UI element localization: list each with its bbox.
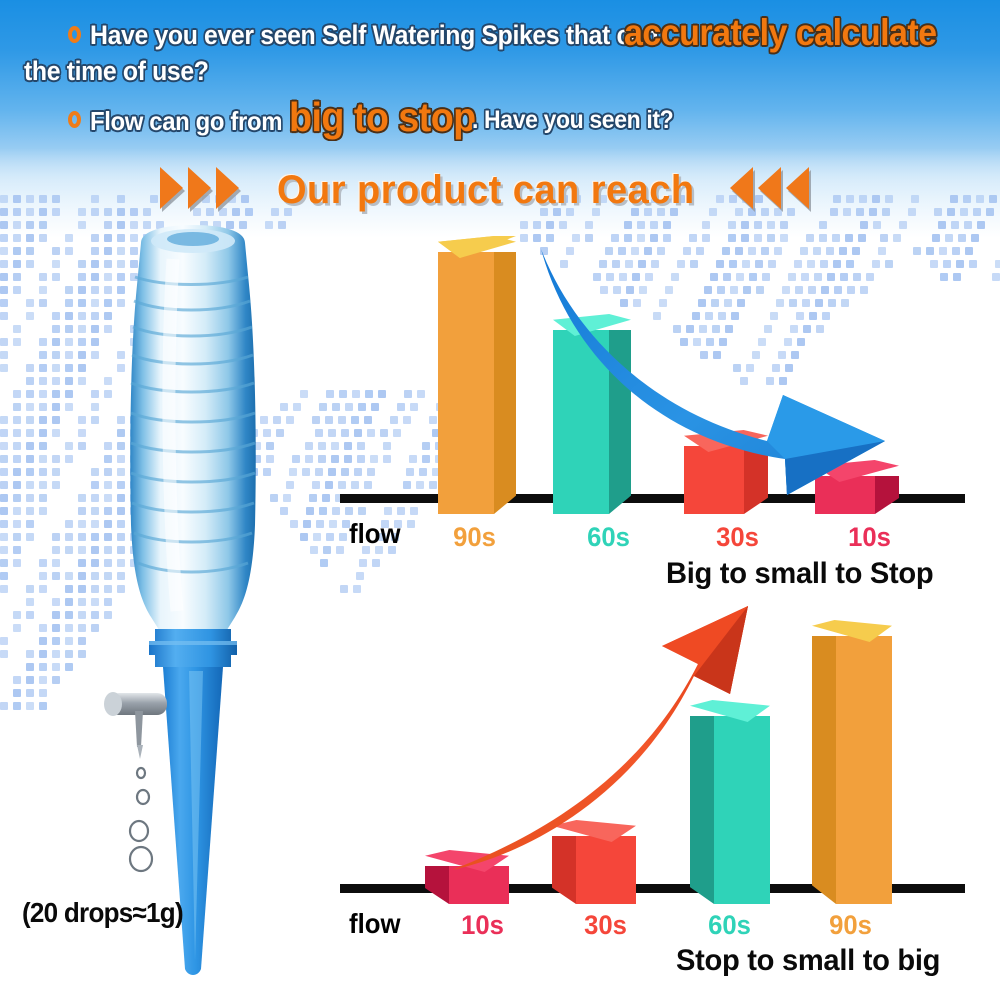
grey-flow-valve-icon bbox=[104, 692, 167, 759]
chart-bottom-tick-10s: 10s bbox=[461, 910, 504, 941]
headline-line2: the time of use? bbox=[24, 56, 209, 87]
bar-front-face bbox=[836, 636, 892, 904]
headline-accurately-calculate: accurately calculate bbox=[624, 12, 937, 54]
headline-line3-part3: . Have you seen it? bbox=[472, 106, 673, 135]
chart-top-tick-90s: 90s bbox=[453, 522, 496, 553]
bar-side-face bbox=[812, 636, 836, 904]
banner-title: Our product can reach bbox=[277, 168, 695, 213]
chart-top-tick-10s: 10s bbox=[848, 522, 891, 553]
chart-top-bar-90s bbox=[438, 236, 516, 514]
product-infographic: Have you ever seen Self Watering Spikes … bbox=[0, 0, 1000, 1000]
headline-big-to-stop: big to stop bbox=[289, 94, 476, 141]
descending-blue-arrow-icon bbox=[535, 245, 915, 535]
chart-bottom-tick-90s: 90s bbox=[829, 910, 872, 941]
chevrons-left-group bbox=[730, 167, 850, 211]
bar-front-face bbox=[438, 252, 494, 514]
chart-top-tick-60s: 60s bbox=[587, 522, 630, 553]
chevrons-right-group bbox=[160, 167, 280, 211]
bar-side-face bbox=[425, 866, 449, 904]
chart-top-caption: Big to small to Stop bbox=[666, 557, 933, 591]
chart-bottom-tick-30s: 30s bbox=[584, 910, 627, 941]
headline-line1-part1: Have you ever seen Self Watering Spikes … bbox=[90, 20, 658, 51]
ring-bullet-icon-2 bbox=[68, 111, 81, 128]
drops-note: (20 drops≈1g) bbox=[22, 897, 183, 929]
ascending-red-arrow-icon bbox=[448, 612, 778, 882]
chart-bottom-caption: Stop to small to big bbox=[676, 944, 940, 978]
headline-line3-part1: Flow can go from bbox=[90, 106, 282, 137]
bar-side-face bbox=[494, 252, 516, 514]
chart-bottom-bar-90s bbox=[812, 620, 892, 904]
water-droplet-icon bbox=[130, 768, 152, 871]
chart-top-tick-30s: 30s bbox=[716, 522, 759, 553]
chart-bottom-tick-60s: 60s bbox=[708, 910, 751, 941]
ring-bullet-icon-1 bbox=[68, 26, 81, 43]
product-bottle-and-spike bbox=[85, 225, 385, 985]
